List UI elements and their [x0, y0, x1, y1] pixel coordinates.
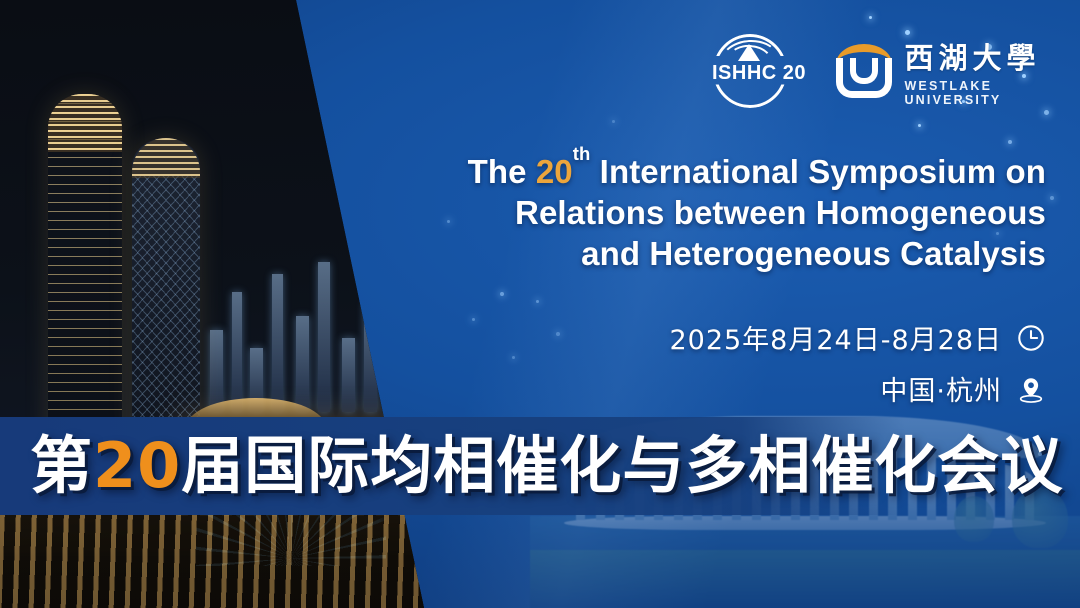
westlake-u-mark-icon — [833, 40, 890, 102]
header-logo-group: ISHHC 20 西湖大學 WESTLAKE UNIVERSITY — [700, 32, 1080, 110]
headline-prefix: 第 — [30, 429, 93, 502]
event-meta-block: 2025年8月24日-8月28日 中国·杭州 — [669, 318, 1046, 420]
title-ordinal-suffix: th — [573, 143, 591, 164]
ishhc-20-logo[interactable]: ISHHC 20 — [700, 32, 809, 110]
conference-banner-poster: MMC ISHHC 20 西湖大學 WESTLAKE UNIVERSITY Th… — [0, 0, 1080, 608]
title-ordinal: 20th — [536, 153, 591, 190]
title-ordinal-number: 20 — [536, 153, 573, 190]
event-date-row: 2025年8月24日-8月28日 — [669, 318, 1046, 357]
title-line3: and Heterogeneous Catalysis — [581, 235, 1046, 272]
westlake-name-chinese: 西湖大學 — [904, 35, 1080, 77]
event-date-text: 2025年8月24日-8月28日 — [669, 318, 1002, 357]
photo-lower-city-strip — [0, 510, 470, 608]
title-line2: Relations between Homogeneous — [515, 194, 1046, 231]
event-location-text: 中国·杭州 — [880, 369, 1002, 408]
westlake-logo-text: 西湖大學 WESTLAKE UNIVERSITY — [904, 35, 1080, 107]
event-location-row: 中国·杭州 — [669, 369, 1046, 408]
title-line1-suffix: International Symposium on — [590, 153, 1046, 190]
westlake-university-logo[interactable]: 西湖大學 WESTLAKE UNIVERSITY — [833, 35, 1080, 107]
location-pin-icon — [1016, 374, 1046, 404]
ishhc-logo-label: ISHHC 20 — [700, 62, 818, 85]
page-title: The 20th International Symposium on Rela… — [330, 144, 1046, 274]
chinese-headline-text: 第20届国际均相催化与多相催化会议 — [30, 420, 1063, 512]
clock-icon — [1016, 323, 1046, 353]
mountain-peak-icon — [738, 44, 760, 61]
title-line1-prefix: The — [468, 153, 536, 190]
headline-number: 20 — [93, 429, 181, 502]
campus-lawn — [530, 550, 1080, 608]
westlake-name-english: WESTLAKE UNIVERSITY — [904, 79, 1080, 107]
headline-suffix: 届国际均相催化与多相催化会议 — [181, 429, 1063, 502]
